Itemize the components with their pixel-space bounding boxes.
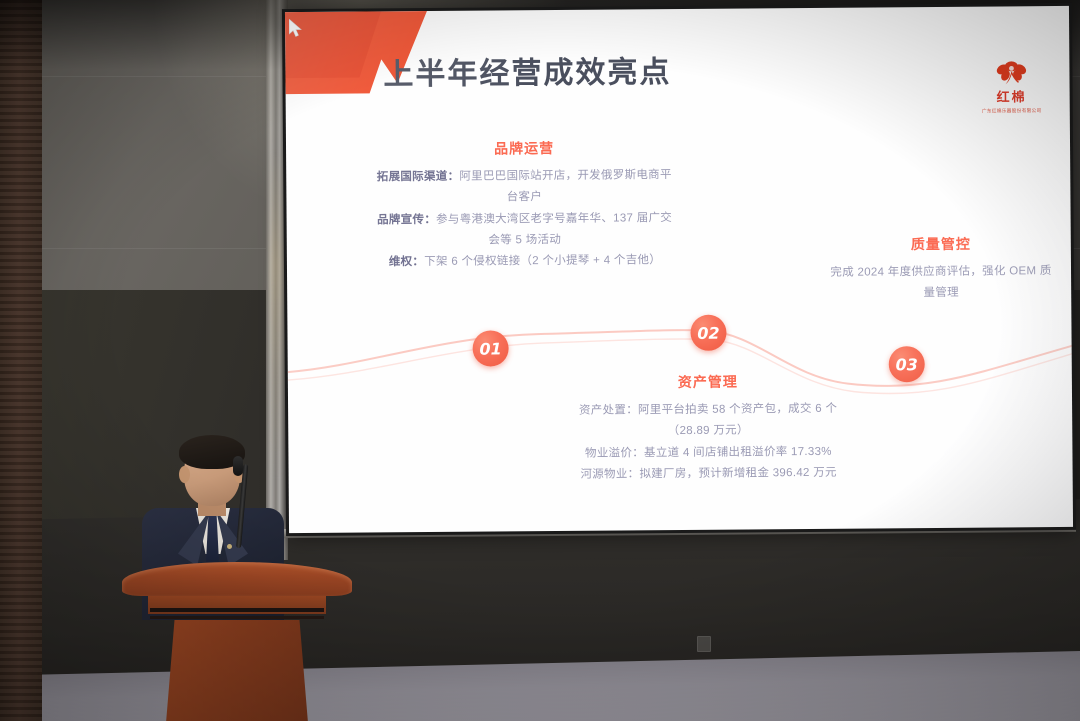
logo-wordmark: 红棉 [966,91,1058,106]
block-line: 拓展国际渠道：阿里巴巴国际站开店，开发俄罗斯电商平台客户 [374,165,674,210]
block-heading: 品牌运营 [374,137,674,159]
block-line: 完成 2024 年度供应商评估，强化 OEM 质量管理 [825,261,1057,305]
microphone-head [233,456,243,476]
block-line: 河源物业：拟建厂房，预计新增租金 396.42 万元 [564,462,854,486]
block-body: 完成 2024 年度供应商评估，强化 OEM 质量管理 [825,261,1057,305]
block-body: 资产处置：阿里平台拍卖 58 个资产包，成交 6 个（28.89 万元） 物业溢… [563,399,854,486]
pillar-reflection [270,150,284,480]
company-logo: 红棉 广东红棉乐器股份有限公司 [965,58,1058,125]
block-line: 物业溢价：基立道 4 间店铺出租溢价率 17.33% [563,441,853,465]
ear-left [179,466,190,483]
podium-stripe [150,608,324,612]
block-line: 维权：下架 6 个侵权链接（2 个小提琴 + 4 个吉他） [375,250,675,274]
block-heading: 质量管控 [825,233,1057,255]
podium [122,562,352,721]
lapel-pin [227,544,232,549]
mouse-pointer-icon [289,19,303,38]
timeline-marker-03[interactable]: 03 [889,346,925,382]
podium-stripe [150,616,324,619]
projection-screen: 上半年经营成效亮点 红棉 广东红棉乐器股份有限公司 [282,3,1076,536]
page-title: 上半年经营成效亮点 [383,47,671,93]
presentation-room-photo: 上半年经营成效亮点 红棉 广东红棉乐器股份有限公司 [0,0,1080,721]
wall-outlet [697,636,711,652]
block-line: 品牌宣传：参与粤港澳大湾区老字号嘉年华、137 届广交会等 5 场活动 [375,208,675,253]
podium-top [122,562,352,596]
content-block-asset-management: 资产管理 资产处置：阿里平台拍卖 58 个资产包，成交 6 个（28.89 万元… [563,371,854,486]
block-body: 拓展国际渠道：阿里巴巴国际站开店，开发俄罗斯电商平台客户 品牌宣传：参与粤港澳大… [374,165,675,274]
content-block-quality-control: 质量管控 完成 2024 年度供应商评估，强化 OEM 质量管理 [825,233,1058,305]
podium-body [166,620,308,721]
slide-canvas: 上半年经营成效亮点 红棉 广东红棉乐器股份有限公司 [285,6,1073,533]
block-heading: 资产管理 [563,371,853,393]
logo-company-name: 广东红棉乐器股份有限公司 [969,107,1054,115]
kapok-flower-icon [992,58,1030,90]
timeline-marker-01[interactable]: 01 [472,330,508,366]
timeline-marker-02[interactable]: 02 [690,315,726,351]
content-block-brand-operation: 品牌运营 拓展国际渠道：阿里巴巴国际站开店，开发俄罗斯电商平台客户 品牌宣传：参… [374,137,675,274]
block-line: 资产处置：阿里平台拍卖 58 个资产包，成交 6 个（28.89 万元） [563,399,853,444]
wooden-column [0,0,42,721]
